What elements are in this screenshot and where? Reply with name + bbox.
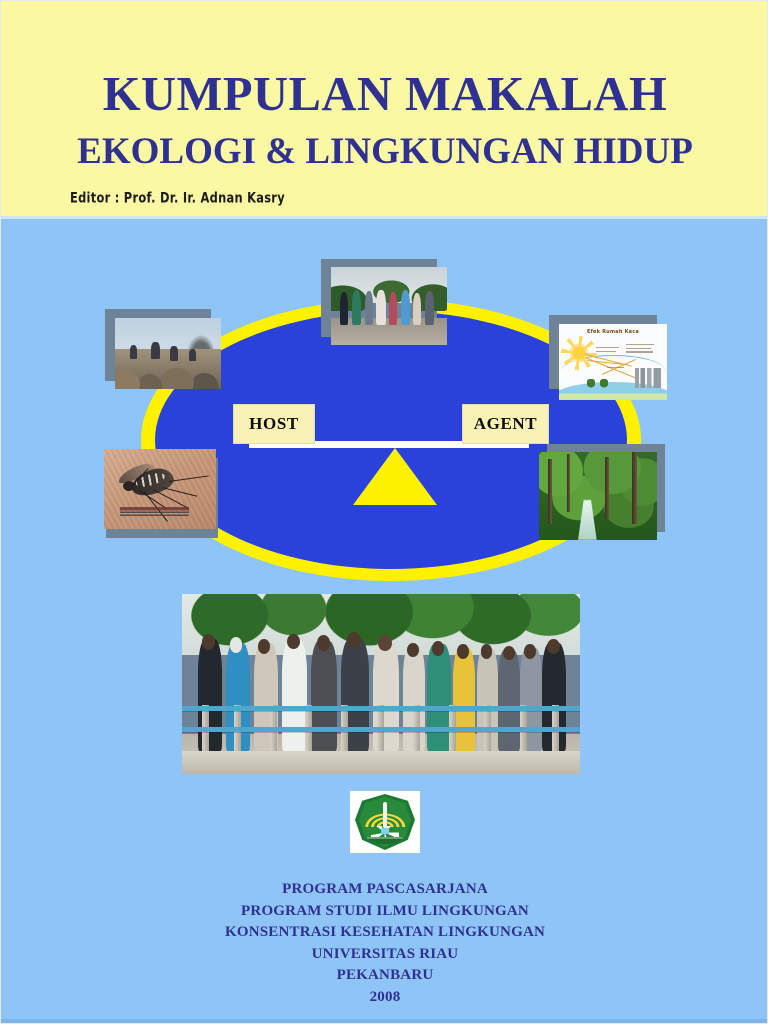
agent-label: AGENT bbox=[462, 404, 549, 444]
greenhouse-diagram-title: Efek Rumah Kaca bbox=[559, 329, 667, 335]
greenhouse-effect-diagram: Efek Rumah Kaca bbox=[549, 315, 667, 400]
photo-content bbox=[115, 318, 221, 389]
field-study-group-photo bbox=[182, 594, 580, 774]
footer-year: 2008 bbox=[1, 987, 768, 1009]
disaster-rubble-photo bbox=[105, 309, 221, 389]
footer-line-1: PROGRAM PASCASARJANA bbox=[1, 879, 768, 901]
universitas-riau-logo bbox=[350, 791, 420, 853]
footer-line-2: PROGRAM STUDI ILMU LINGKUNGAN bbox=[1, 901, 768, 923]
host-label: HOST bbox=[233, 404, 315, 444]
logo-center-box bbox=[381, 828, 389, 834]
photo-content bbox=[331, 267, 447, 345]
editor-credit: Editor : Prof. Dr. Ir. Adnan Kasry bbox=[70, 190, 285, 207]
book-cover: KUMPULAN MAKALAH EKOLOGI & LINGKUNGAN HI… bbox=[0, 0, 768, 1024]
photo-content: Efek Rumah Kaca bbox=[559, 324, 667, 400]
footer-line-4: UNIVERSITAS RIAU bbox=[1, 944, 768, 966]
photo-content bbox=[182, 594, 580, 774]
crowd-street-photo bbox=[321, 259, 447, 345]
footer-line-3: KONSENTRASI KESEHATAN LINGKUNGAN bbox=[1, 922, 768, 944]
photo-content bbox=[104, 449, 216, 529]
host-agent-diagram: HOST AGENT bbox=[1, 219, 768, 599]
logo-mast-icon bbox=[383, 802, 387, 828]
photo-content bbox=[539, 452, 657, 540]
publisher-block: PROGRAM PASCASARJANA PROGRAM STUDI ILMU … bbox=[1, 879, 768, 1008]
balance-fulcrum-icon bbox=[353, 448, 437, 505]
page-title: KUMPULAN MAKALAH bbox=[5, 69, 765, 118]
footer-line-5: PEKANBARU bbox=[1, 965, 768, 987]
mosquito-photo bbox=[104, 449, 226, 539]
header-band: KUMPULAN MAKALAH EKOLOGI & LINGKUNGAN HI… bbox=[1, 1, 768, 219]
bottom-edge-strip bbox=[1, 1019, 768, 1023]
forest-stream-photo bbox=[539, 444, 667, 542]
page-subtitle: EKOLOGI & LINGKUNGAN HIDUP bbox=[1, 133, 768, 170]
